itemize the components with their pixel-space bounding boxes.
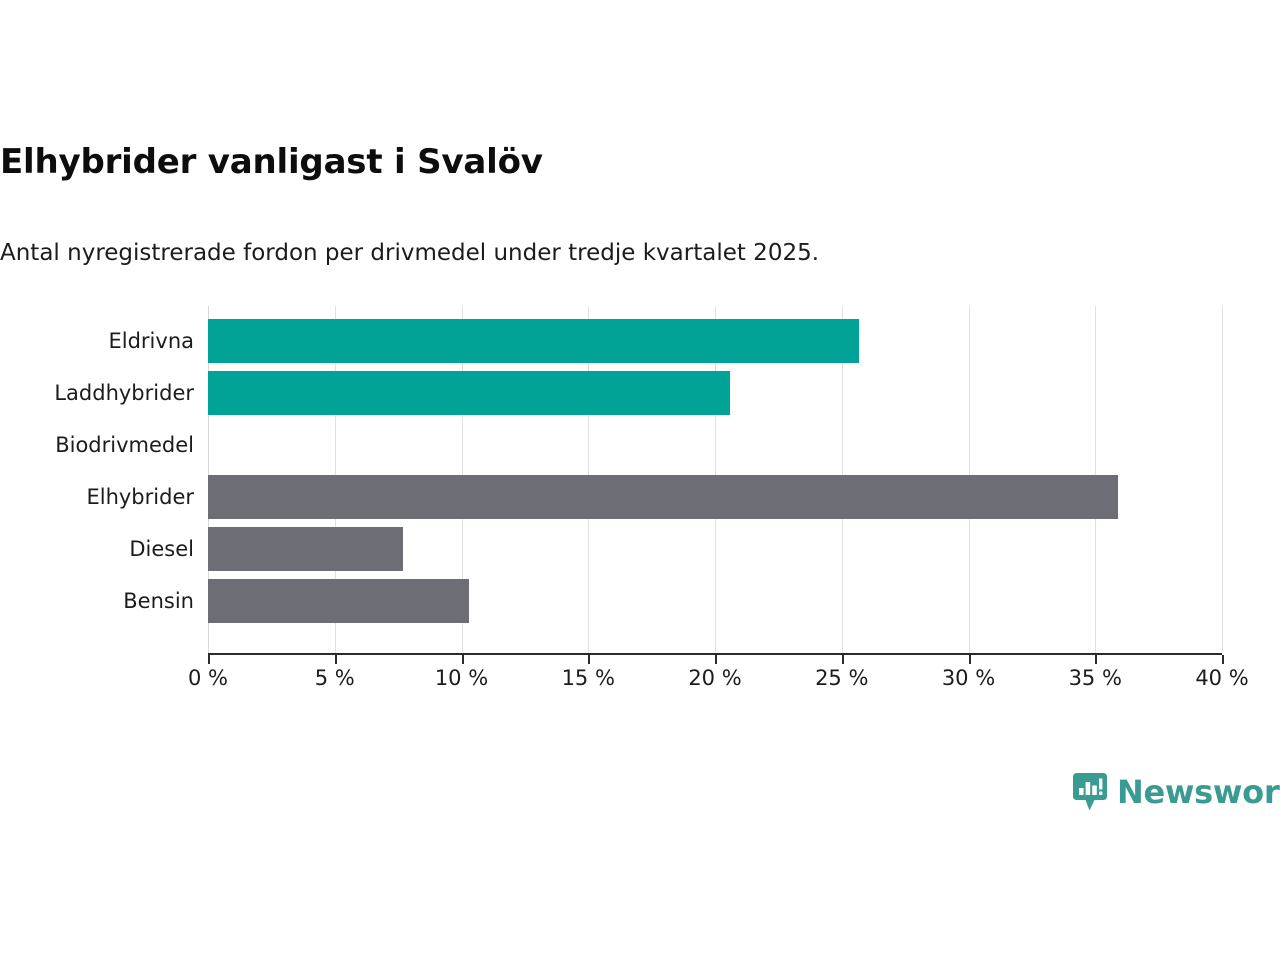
newsworthy-wordmark: Newsworthy <box>1117 776 1280 808</box>
y-axis-category-label: Bensin <box>123 579 194 623</box>
page-subtitle: Antal nyregistrerade fordon per drivmede… <box>0 240 819 268</box>
newsworthy-bar-chart-bubble-icon <box>1072 772 1108 812</box>
x-axis-tick-label: 40 % <box>1195 666 1248 690</box>
x-axis-tick-label: 0 % <box>188 666 228 690</box>
y-axis-category-label: Elhybrider <box>86 475 194 519</box>
bar-row: Elhybrider <box>0 475 1280 527</box>
tick-mark-20 <box>715 655 717 664</box>
bar[interactable] <box>208 527 403 571</box>
x-axis-tick-label: 35 % <box>1069 666 1122 690</box>
tick-mark-30 <box>969 655 971 664</box>
bar[interactable] <box>208 579 469 623</box>
bar-row: Diesel <box>0 527 1280 579</box>
bar[interactable] <box>208 475 1118 519</box>
tick-mark-15 <box>588 655 590 664</box>
bar-row: Eldrivna <box>0 319 1280 371</box>
x-axis-tick-label: 5 % <box>315 666 355 690</box>
tick-mark-40 <box>1222 655 1224 664</box>
bar-row: Laddhybrider <box>0 371 1280 423</box>
bar[interactable] <box>208 319 859 363</box>
y-axis-category-label: Diesel <box>129 527 194 571</box>
x-axis-tick-label: 25 % <box>815 666 868 690</box>
page-title: Elhybrider vanligast i Svalöv <box>0 143 543 182</box>
newsworthy-logo[interactable]: Newsworthy <box>1072 772 1280 812</box>
y-axis-category-label: Eldrivna <box>108 319 194 363</box>
bar-chart: EldrivnaLaddhybriderBiodrivmedelElhybrid… <box>0 300 1280 720</box>
x-axis-tick-label: 15 % <box>562 666 615 690</box>
y-axis-category-label: Laddhybrider <box>54 371 194 415</box>
bar[interactable] <box>208 371 730 415</box>
bar-row: Biodrivmedel <box>0 423 1280 475</box>
x-axis-tick-label: 20 % <box>688 666 741 690</box>
tick-mark-35 <box>1095 655 1097 664</box>
tick-mark-0 <box>208 655 210 664</box>
tick-mark-25 <box>842 655 844 664</box>
y-axis-category-label: Biodrivmedel <box>55 423 194 467</box>
x-axis-tick-label: 10 % <box>435 666 488 690</box>
chart-page: Elhybrider vanligast i Svalöv Antal nyre… <box>0 0 1280 960</box>
bar-row: Bensin <box>0 579 1280 631</box>
x-axis-tick-label: 30 % <box>942 666 995 690</box>
tick-mark-10 <box>462 655 464 664</box>
tick-mark-5 <box>335 655 337 664</box>
